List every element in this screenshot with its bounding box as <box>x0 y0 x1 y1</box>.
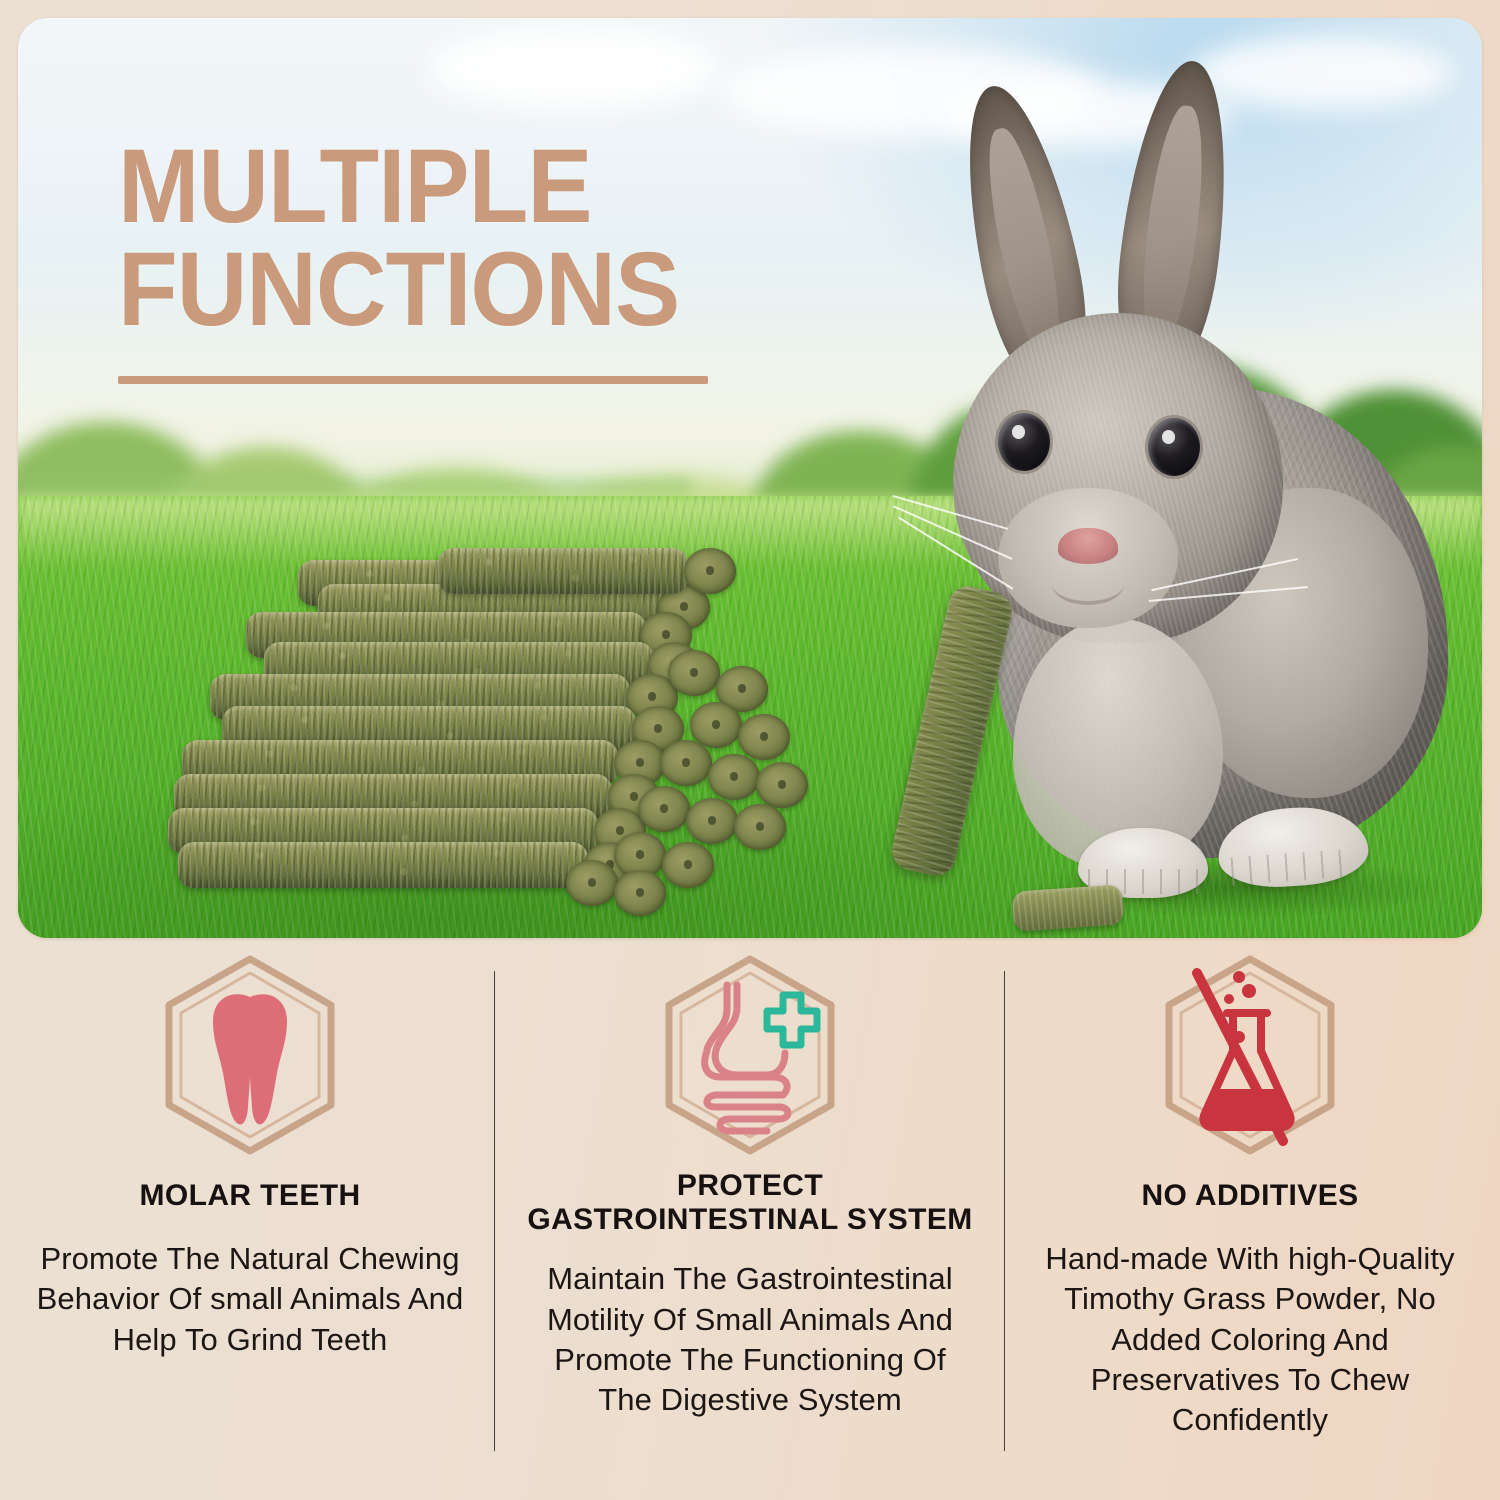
headline-line-1: MULTIPLE <box>118 128 592 245</box>
gastrointestinal-system-icon <box>655 955 845 1155</box>
chew-stick-stack <box>168 554 788 924</box>
headline-line-2: FUNCTIONS <box>118 239 679 342</box>
feature-title: NO ADDITIVES <box>1141 1179 1358 1213</box>
rabbit-nose <box>1058 528 1118 564</box>
feature-title-line-1: PROTECT <box>677 1169 823 1202</box>
chew-stick-on-grass <box>1012 884 1125 932</box>
no-additives-flask-icon <box>1155 955 1345 1155</box>
cloud <box>428 27 721 110</box>
page-title: MULTIPLE FUNCTIONS <box>118 136 721 342</box>
hero-photo-panel: MULTIPLE FUNCTIONS <box>18 18 1482 938</box>
rabbit-eye-right <box>1148 418 1200 476</box>
feature-columns: MOLAR TEETH Promote The Natural Chewing … <box>0 955 1500 1475</box>
rabbit-mouth <box>1052 563 1124 605</box>
feature-title: PROTECT GASTROINTESTINAL SYSTEM <box>527 1169 972 1237</box>
feature-column-molar-teeth: MOLAR TEETH Promote The Natural Chewing … <box>0 955 500 1475</box>
feature-body: Promote The Natural Chewing Behavior Of … <box>24 1239 476 1360</box>
feature-body: Hand-made With high-Quality Timothy Gras… <box>1024 1239 1476 1440</box>
rabbit-photo-subject <box>848 58 1482 928</box>
rabbit-eye-left <box>998 413 1050 471</box>
chew-stick-in-mouth <box>888 583 1016 880</box>
feature-column-gastrointestinal: PROTECT GASTROINTESTINAL SYSTEM Maintain… <box>500 955 1000 1475</box>
feature-body: Maintain The Gastrointestinal Motility O… <box>524 1259 976 1420</box>
headline-underline <box>118 376 708 384</box>
feature-title-line-2: GASTROINTESTINAL SYSTEM <box>527 1203 972 1236</box>
feature-title: MOLAR TEETH <box>139 1179 360 1213</box>
molar-tooth-icon <box>155 955 345 1155</box>
feature-column-no-additives: NO ADDITIVES Hand-made With high-Quality… <box>1000 955 1500 1475</box>
